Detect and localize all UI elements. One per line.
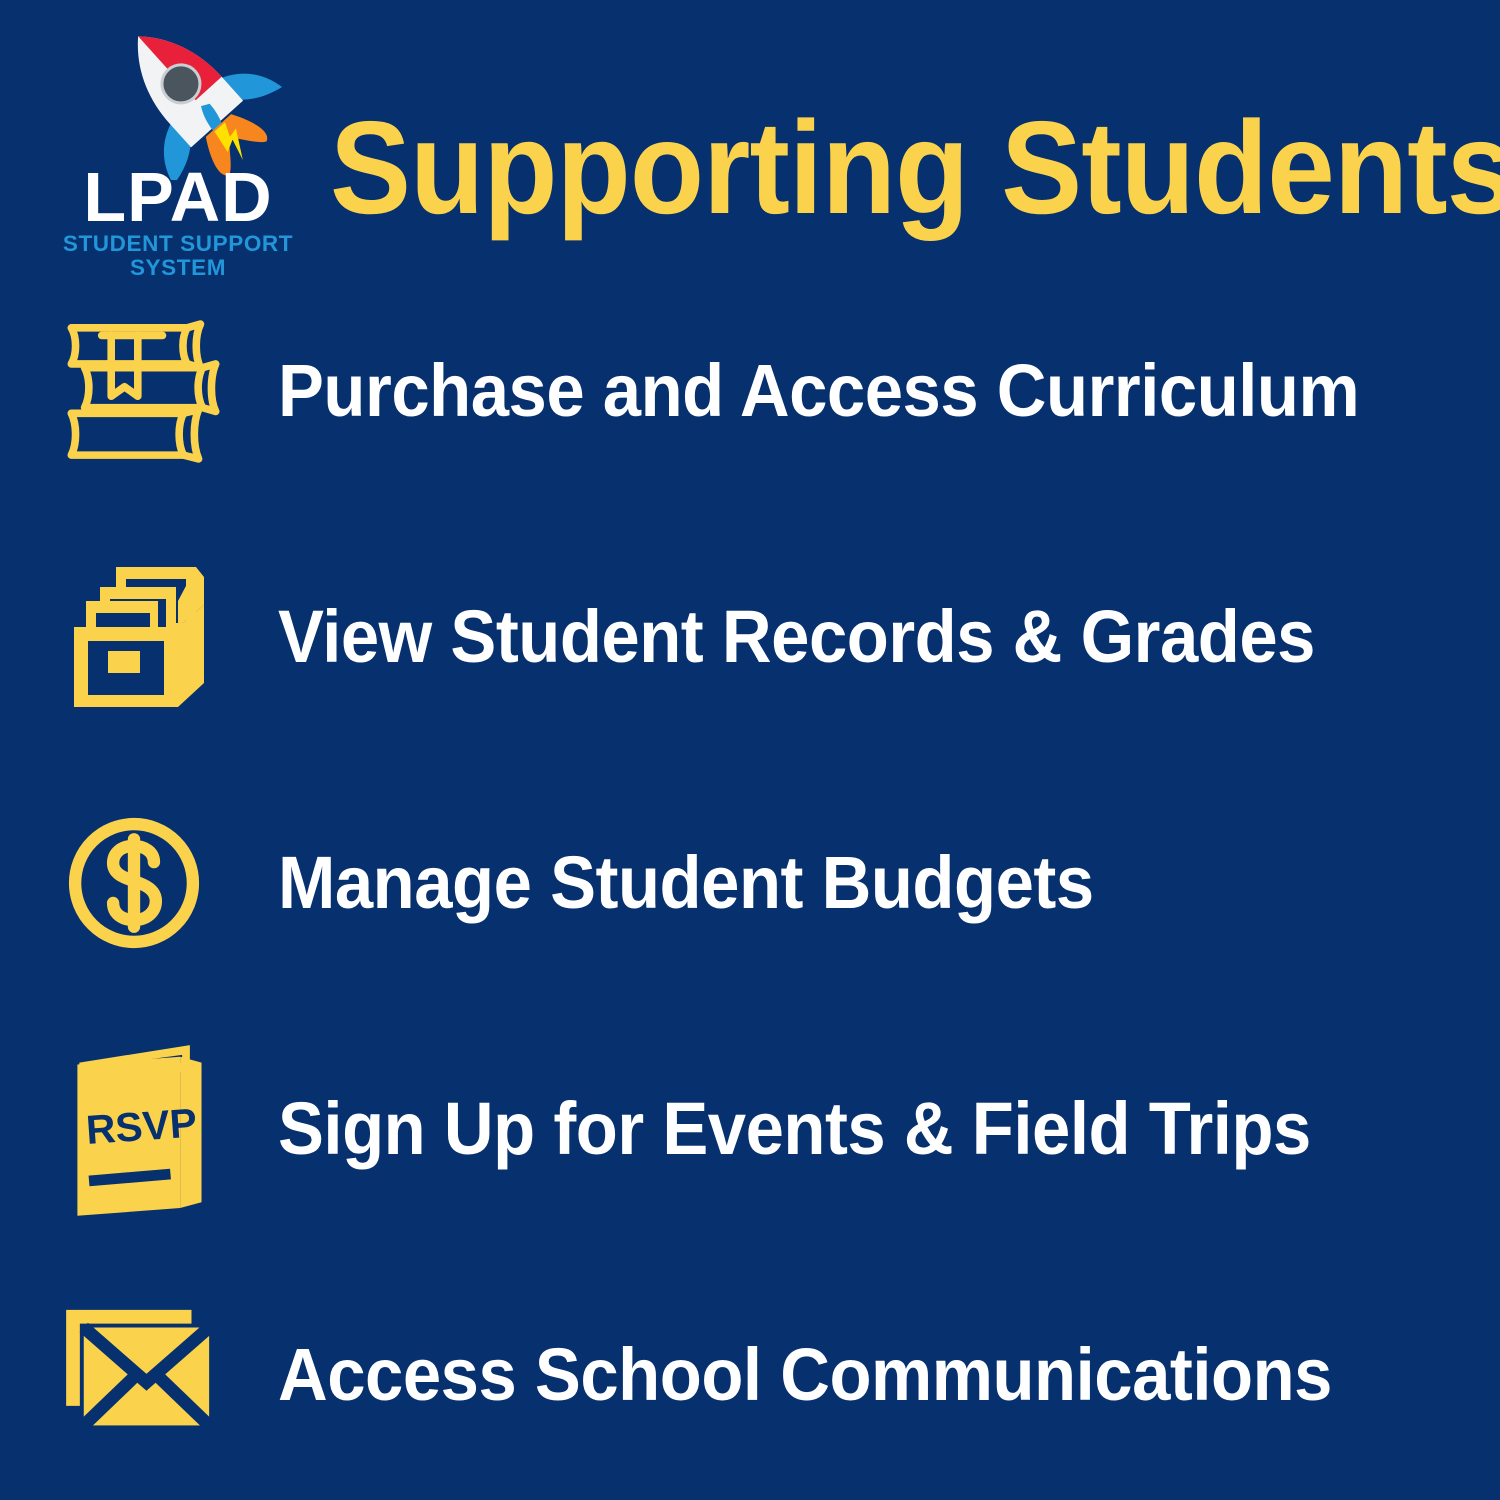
brand-logo: LPAD STUDENT SUPPORT SYSTEM [18,8,338,260]
feature-label: Manage Student Budgets [278,843,1414,923]
rsvp-card-icon: RSVP [40,1029,290,1229]
file-box-icon [40,537,290,737]
feature-row: Manage Student Budgets [0,760,1500,1006]
feature-row: Purchase and Access Curriculum [0,268,1500,514]
feature-list: Purchase and Access Curriculum [0,268,1500,1500]
feature-label: Access School Communications [278,1335,1414,1415]
feature-row: View Student Records & Grades [0,514,1500,760]
dollar-coin-icon [40,783,290,983]
page-title: Supporting Students [330,100,1397,236]
rocket-icon [96,10,286,180]
envelopes-icon [40,1275,290,1475]
feature-label: Purchase and Access Curriculum [278,351,1414,431]
feature-row: RSVP Sign Up for Events & Field Trips [0,1006,1500,1252]
feature-label: View Student Records & Grades [278,597,1414,677]
feature-label: Sign Up for Events & Field Trips [278,1089,1414,1169]
rsvp-card-text: RSVP [85,1099,199,1153]
feature-row: Access School Communications [0,1252,1500,1498]
poster-header: LPAD STUDENT SUPPORT SYSTEM Supporting S… [0,0,1500,268]
books-stack-icon [40,291,290,491]
brand-wordmark: LPAD [18,160,338,234]
poster-canvas: LPAD STUDENT SUPPORT SYSTEM Supporting S… [0,0,1500,1500]
